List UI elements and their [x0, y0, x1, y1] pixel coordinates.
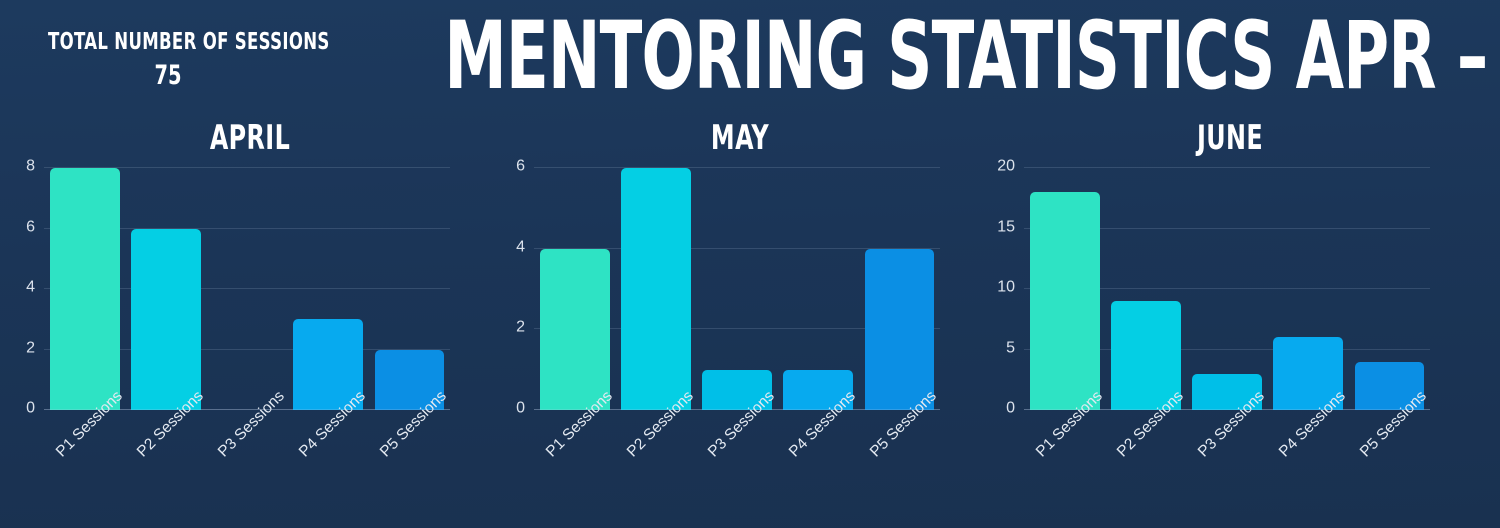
- bars-june: [1024, 168, 1430, 410]
- y-axis-tick-label: 20: [997, 158, 1015, 176]
- bar-slot: [859, 168, 940, 410]
- x-axis-labels-april: P1 SessionsP2 SessionsP3 SessionsP4 Sess…: [44, 410, 450, 520]
- y-axis-tick-label: 15: [997, 218, 1015, 236]
- plot-area-june: 05101520: [1024, 168, 1430, 410]
- y-axis-tick-label: 2: [26, 339, 35, 357]
- bar[interactable]: [50, 168, 120, 410]
- chart-panel-june: JUNE 05101520 P1 SessionsP2 SessionsP3 S…: [980, 118, 1480, 528]
- bar-slot: [1186, 168, 1267, 410]
- bar-slot: [288, 168, 369, 410]
- y-axis-tick-label: 4: [516, 238, 525, 256]
- chart-title-april: APRIL: [55, 118, 445, 158]
- bar[interactable]: [1030, 192, 1100, 410]
- y-axis-tick-label: 0: [1006, 400, 1015, 418]
- x-axis-label-slot: P4 Sessions: [1268, 410, 1349, 520]
- plot-area-april: 02468: [44, 168, 450, 410]
- y-axis-tick-label: 6: [516, 158, 525, 176]
- x-axis-label-slot: P3 Sessions: [696, 410, 777, 520]
- bar-slot: [615, 168, 696, 410]
- y-axis-tick-label: 6: [26, 218, 35, 236]
- x-axis-label-slot: P3 Sessions: [1186, 410, 1267, 520]
- bar-slot: [696, 168, 777, 410]
- bar-slot: [206, 168, 287, 410]
- x-axis-label-slot: P5 Sessions: [1349, 410, 1430, 520]
- bar-slot: [778, 168, 859, 410]
- infographic-poster: TOTAL NUMBER OF SESSIONS 75 MENTORING ST…: [0, 0, 1500, 528]
- y-axis-tick-label: 8: [26, 158, 35, 176]
- x-axis-label-slot: P2 Sessions: [1105, 410, 1186, 520]
- x-axis-label-slot: P2 Sessions: [125, 410, 206, 520]
- bar-slot: [1105, 168, 1186, 410]
- poster-header: TOTAL NUMBER OF SESSIONS 75 MENTORING ST…: [0, 0, 1500, 118]
- x-axis-labels-may: P1 SessionsP2 SessionsP3 SessionsP4 Sess…: [534, 410, 940, 520]
- bar[interactable]: [131, 229, 201, 411]
- chart-panel-may: MAY 0246 P1 SessionsP2 SessionsP3 Sessio…: [490, 118, 990, 528]
- x-axis-label-slot: P4 Sessions: [778, 410, 859, 520]
- bar-slot: [1268, 168, 1349, 410]
- bar[interactable]: [865, 249, 935, 410]
- plot-area-may: 0246: [534, 168, 940, 410]
- total-sessions-label: TOTAL NUMBER OF SESSIONS: [48, 30, 288, 54]
- y-axis-tick-label: 10: [997, 279, 1015, 297]
- y-axis-tick-label: 0: [516, 400, 525, 418]
- x-axis-label-slot: P4 Sessions: [288, 410, 369, 520]
- bar-slot: [534, 168, 615, 410]
- y-axis-tick-label: 0: [26, 400, 35, 418]
- bar-slot: [1349, 168, 1430, 410]
- x-axis-label-slot: P5 Sessions: [859, 410, 940, 520]
- bar-slot: [125, 168, 206, 410]
- bars-may: [534, 168, 940, 410]
- bars-april: [44, 168, 450, 410]
- x-axis-label-slot: P2 Sessions: [615, 410, 696, 520]
- total-sessions-block: TOTAL NUMBER OF SESSIONS 75: [18, 30, 318, 91]
- x-axis-label-slot: P3 Sessions: [206, 410, 287, 520]
- chart-title-may: MAY: [545, 118, 935, 158]
- x-axis-label-slot: P1 Sessions: [44, 410, 125, 520]
- x-axis-label-slot: P1 Sessions: [1024, 410, 1105, 520]
- chart-title-june: JUNE: [1035, 118, 1425, 158]
- bar-slot: [369, 168, 450, 410]
- x-axis-label-slot: P1 Sessions: [534, 410, 615, 520]
- page-title: MENTORING STATISTICS APR – JUN: [444, 10, 1095, 104]
- total-sessions-value: 75: [48, 60, 288, 91]
- y-axis-tick-label: 2: [516, 319, 525, 337]
- x-axis-label-slot: P5 Sessions: [369, 410, 450, 520]
- bar[interactable]: [621, 168, 691, 410]
- bar[interactable]: [540, 249, 610, 410]
- bar-slot: [44, 168, 125, 410]
- y-axis-tick-label: 5: [1006, 339, 1015, 357]
- y-axis-tick-label: 4: [26, 279, 35, 297]
- bar-slot: [1024, 168, 1105, 410]
- charts-row: APRIL 02468 P1 SessionsP2 SessionsP3 Ses…: [0, 118, 1500, 528]
- x-axis-labels-june: P1 SessionsP2 SessionsP3 SessionsP4 Sess…: [1024, 410, 1430, 520]
- chart-panel-april: APRIL 02468 P1 SessionsP2 SessionsP3 Ses…: [0, 118, 500, 528]
